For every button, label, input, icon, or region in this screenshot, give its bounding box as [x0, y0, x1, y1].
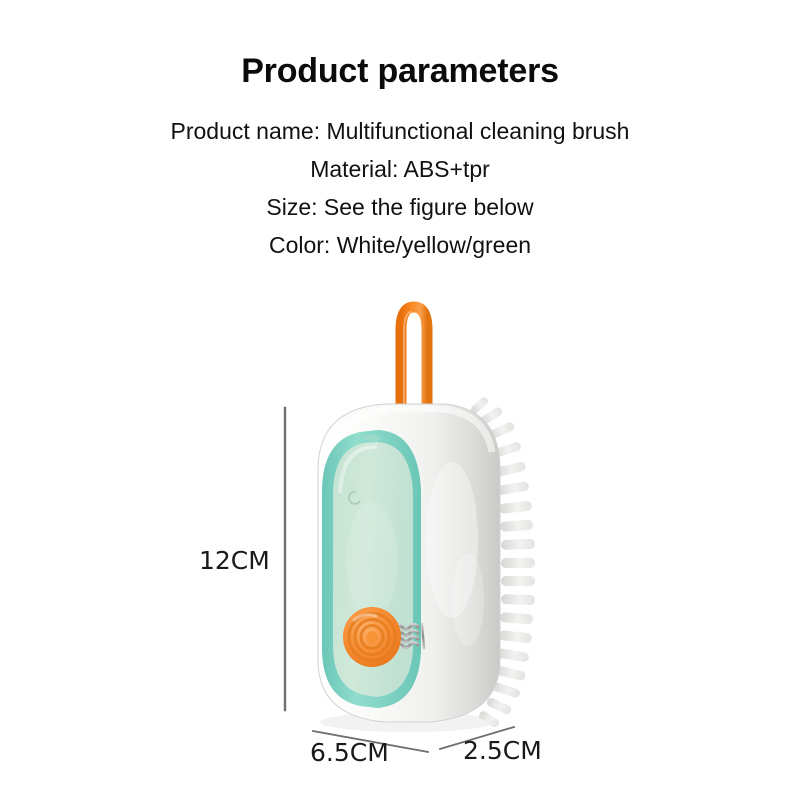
hanging-loop-icon	[401, 307, 427, 412]
dimension-label-depth: 2.5CM	[463, 736, 542, 765]
dimension-label-height: 12CM	[199, 546, 270, 575]
product-figure	[0, 0, 800, 800]
spray-button[interactable]	[343, 607, 401, 667]
dimension-label-width: 6.5CM	[310, 738, 389, 767]
